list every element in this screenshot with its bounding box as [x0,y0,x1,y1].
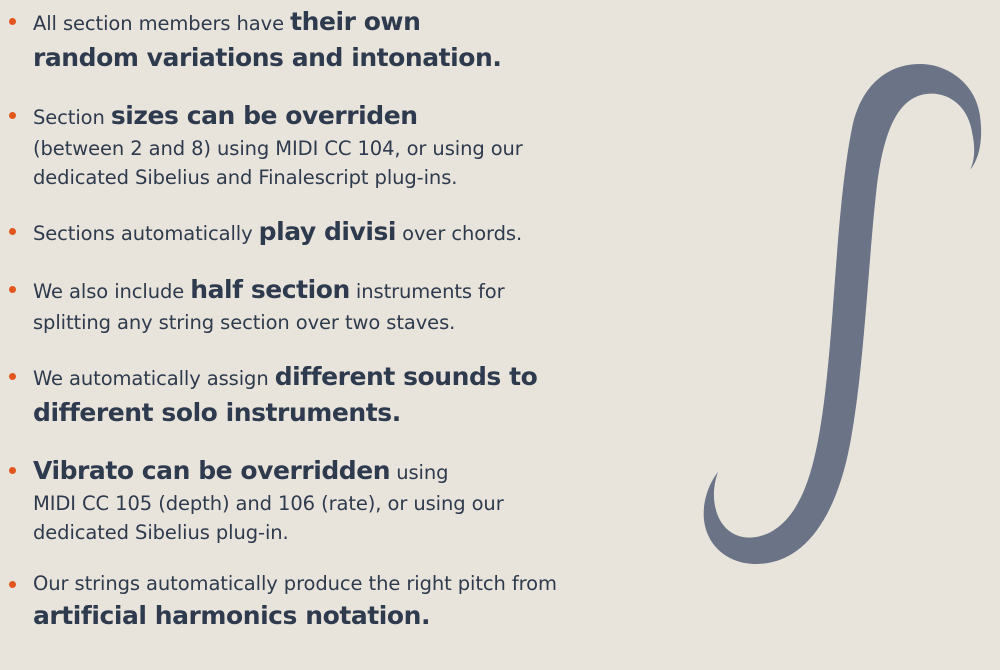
emphasis-text: half section [190,275,350,304]
regular-text: MIDI CC 105 (depth) and 106 (rate), or u… [33,492,504,515]
regular-text: dedicated Sibelius and Finalescript plug… [33,166,457,189]
regular-text: dedicated Sibelius plug-in. [33,521,289,544]
regular-text: splitting any string section over two st… [33,311,455,334]
emphasis-text: sizes can be overriden [111,101,418,130]
bullet-item-different-sounds: We automatically assign different sounds… [0,359,713,431]
bullet-dot-icon [9,112,16,119]
emphasis-text: . [492,43,501,72]
regular-text: over chords. [396,222,522,245]
bullet-line: Vibrato can be overridden using [33,453,713,489]
bullet-text: Sections automatically play divisi over … [33,214,713,250]
bullet-text: Vibrato can be overridden usingMIDI CC 1… [33,453,713,547]
bullet-line: random variations and intonation. [33,40,713,76]
bullet-dot-icon [9,373,16,380]
bullet-item-half-section: We also include half section instruments… [0,272,713,337]
bullet-dot-icon [9,581,16,588]
regular-text: Our strings automatically produce the ri… [33,572,557,595]
regular-text: We automatically assign [33,367,275,390]
bullet-line: All section members have their own [33,4,713,40]
bullet-dot-icon [9,228,16,235]
bullet-item-section-sizes: Section sizes can be overriden(between 2… [0,98,713,192]
bullet-text: Section sizes can be overriden(between 2… [33,98,713,192]
bullet-line: splitting any string section over two st… [33,308,713,337]
bullet-dot-icon [9,18,16,25]
bullet-line: We also include half section instruments… [33,272,713,308]
bullet-line: We automatically assign different sounds… [33,359,713,395]
emphasis-text: artificial harmonics notation [33,601,421,630]
bullet-line: Our strings automatically produce the ri… [33,569,713,598]
emphasis-text: . [421,601,430,630]
bullet-line: artificial harmonics notation. [33,598,713,634]
bullet-line: MIDI CC 105 (depth) and 106 (rate), or u… [33,489,713,518]
bullet-line: Sections automatically play divisi over … [33,214,713,250]
slide-root: All section members have their ownrandom… [0,0,1000,670]
bullet-dot-icon [9,286,16,293]
emphasis-text: Vibrato can be overridden [33,456,390,485]
bullet-dot-icon [9,467,16,474]
emphasis-text: play divisi [259,217,396,246]
bullet-item-vibrato-override: Vibrato can be overridden usingMIDI CC 1… [0,453,713,547]
bullet-text: We automatically assign different sounds… [33,359,713,431]
emphasis-text: different solo instruments [33,398,392,427]
regular-text: We also include [33,280,190,303]
bullet-text: We also include half section instruments… [33,272,713,337]
bullet-text: All section members have their ownrandom… [33,4,713,76]
emphasis-text: their own [290,7,420,36]
bullet-line: dedicated Sibelius plug-in. [33,518,713,547]
integral-long-s-icon [680,44,1000,584]
bullet-item-random-variations: All section members have their ownrandom… [0,4,713,76]
emphasis-text: different sounds to [275,362,538,391]
bullet-item-play-divisi: Sections automatically play divisi over … [0,214,713,250]
bullet-item-artificial-harmonics: Our strings automatically produce the ri… [0,569,713,634]
regular-text: using [390,461,448,484]
emphasis-text: . [392,398,401,427]
bullet-line: different solo instruments. [33,395,713,431]
regular-text: All section members have [33,12,290,35]
emphasis-text: random variations and intonation [33,43,492,72]
bullet-line: Section sizes can be overriden [33,98,713,134]
bullet-line: (between 2 and 8) using MIDI CC 104, or … [33,134,713,163]
regular-text: instruments for [350,280,505,303]
bullet-text: Our strings automatically produce the ri… [33,569,713,634]
regular-text: Section [33,106,111,129]
bullet-line: dedicated Sibelius and Finalescript plug… [33,163,713,192]
regular-text: Sections automatically [33,222,259,245]
regular-text: (between 2 and 8) using MIDI CC 104, or … [33,137,523,160]
